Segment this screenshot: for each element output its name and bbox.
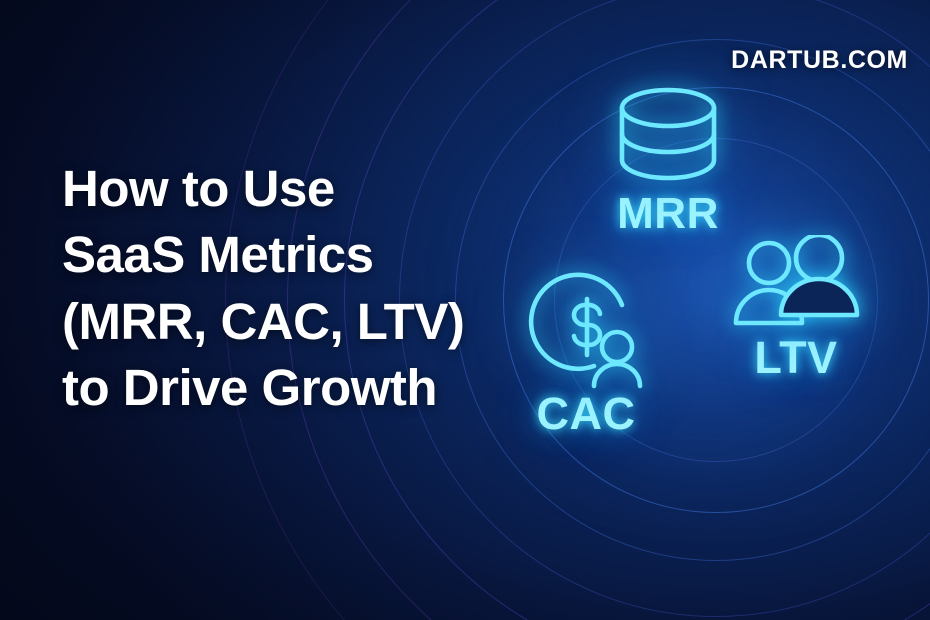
dollar-circle-person-icon (518, 265, 654, 389)
metric-ltv: LTV (732, 235, 860, 380)
page-title: How to Use SaaS Metrics (MRR, CAC, LTV) … (62, 156, 522, 421)
banner-canvas: DARTUB.COM How to Use SaaS Metrics (MRR,… (0, 0, 930, 620)
two-users-icon (732, 235, 860, 331)
metrics-cluster: MRR CAC (540, 80, 930, 470)
title-line-3: (MRR, CAC, LTV) (62, 289, 522, 355)
metric-cac-label: CAC (537, 391, 636, 436)
title-line-2: SaaS Metrics (62, 222, 522, 288)
title-line-1: How to Use (62, 156, 522, 222)
metric-cac: CAC (518, 265, 654, 436)
metric-mrr-label: MRR (617, 192, 719, 236)
database-cylinder-icon (608, 84, 728, 190)
brand-logo-text: DARTUB.COM (731, 46, 908, 75)
metric-mrr: MRR (608, 84, 728, 236)
metric-ltv-label: LTV (754, 335, 837, 380)
title-line-4: to Drive Growth (62, 355, 522, 421)
